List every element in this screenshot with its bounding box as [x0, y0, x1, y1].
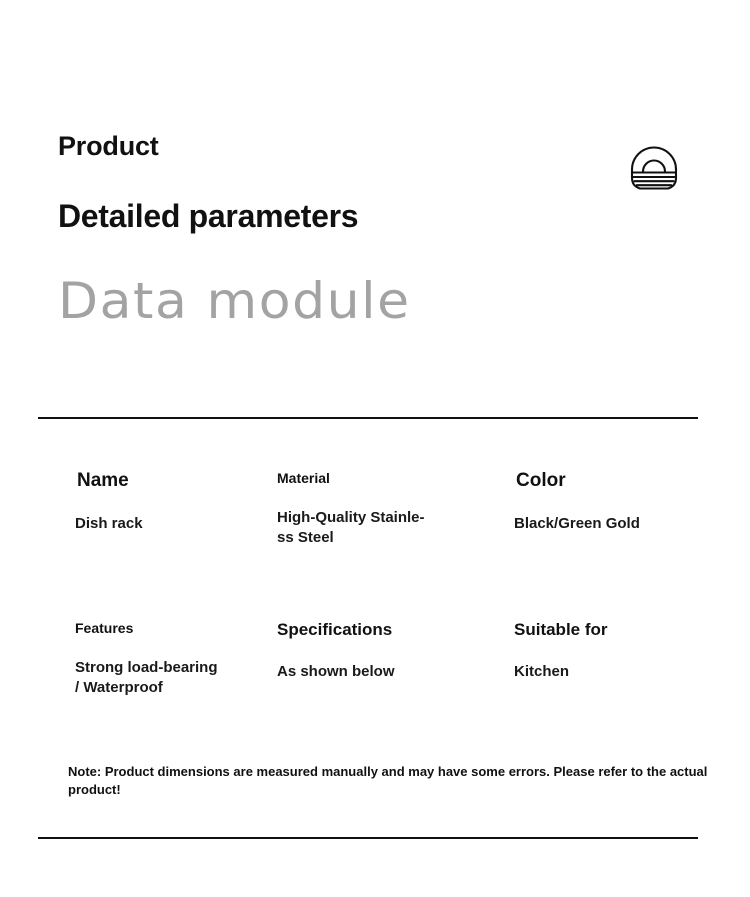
dish-rack-icon	[627, 142, 681, 196]
page-title-detailed-parameters: Detailed parameters	[58, 160, 618, 234]
table-row: Features Strong load-bearing / Waterproo…	[0, 620, 750, 770]
spec-cell-specifications: Specifications As shown below	[277, 620, 502, 682]
spec-value: High-Quality Stainle- ss Steel	[277, 486, 502, 549]
spec-value: Black/Green Gold	[514, 492, 729, 534]
spec-label: Suitable for	[514, 620, 729, 640]
product-parameters-page: Product Detailed parameters Data module …	[0, 0, 750, 897]
spec-value: Strong load-bearing / Waterproof	[75, 636, 265, 699]
page-title-data-module: Data module	[58, 234, 640, 326]
spec-cell-suitable-for: Suitable for Kitchen	[514, 620, 729, 682]
spec-label: Name	[75, 470, 265, 492]
divider-bottom	[38, 837, 698, 839]
spec-value: Kitchen	[514, 640, 729, 682]
spec-label: Color	[514, 470, 729, 492]
disclaimer-note: Note: Product dimensions are measured ma…	[68, 763, 723, 800]
spec-value: Dish rack	[75, 492, 265, 534]
specification-table: Name Dish rack Material High-Quality Sta…	[0, 470, 750, 770]
page-title-product: Product	[58, 132, 618, 160]
spec-label: Features	[75, 620, 265, 636]
spec-cell-features: Features Strong load-bearing / Waterproo…	[75, 620, 265, 699]
spec-label: Specifications	[277, 620, 502, 640]
divider-top	[38, 417, 698, 419]
spec-label: Material	[277, 470, 502, 486]
table-row: Name Dish rack Material High-Quality Sta…	[0, 470, 750, 620]
spec-value: As shown below	[277, 640, 502, 682]
page-header: Product Detailed parameters Data module	[58, 132, 618, 326]
spec-cell-name: Name Dish rack	[75, 470, 265, 534]
spec-cell-color: Color Black/Green Gold	[514, 470, 729, 534]
spec-cell-material: Material High-Quality Stainle- ss Steel	[277, 470, 502, 549]
